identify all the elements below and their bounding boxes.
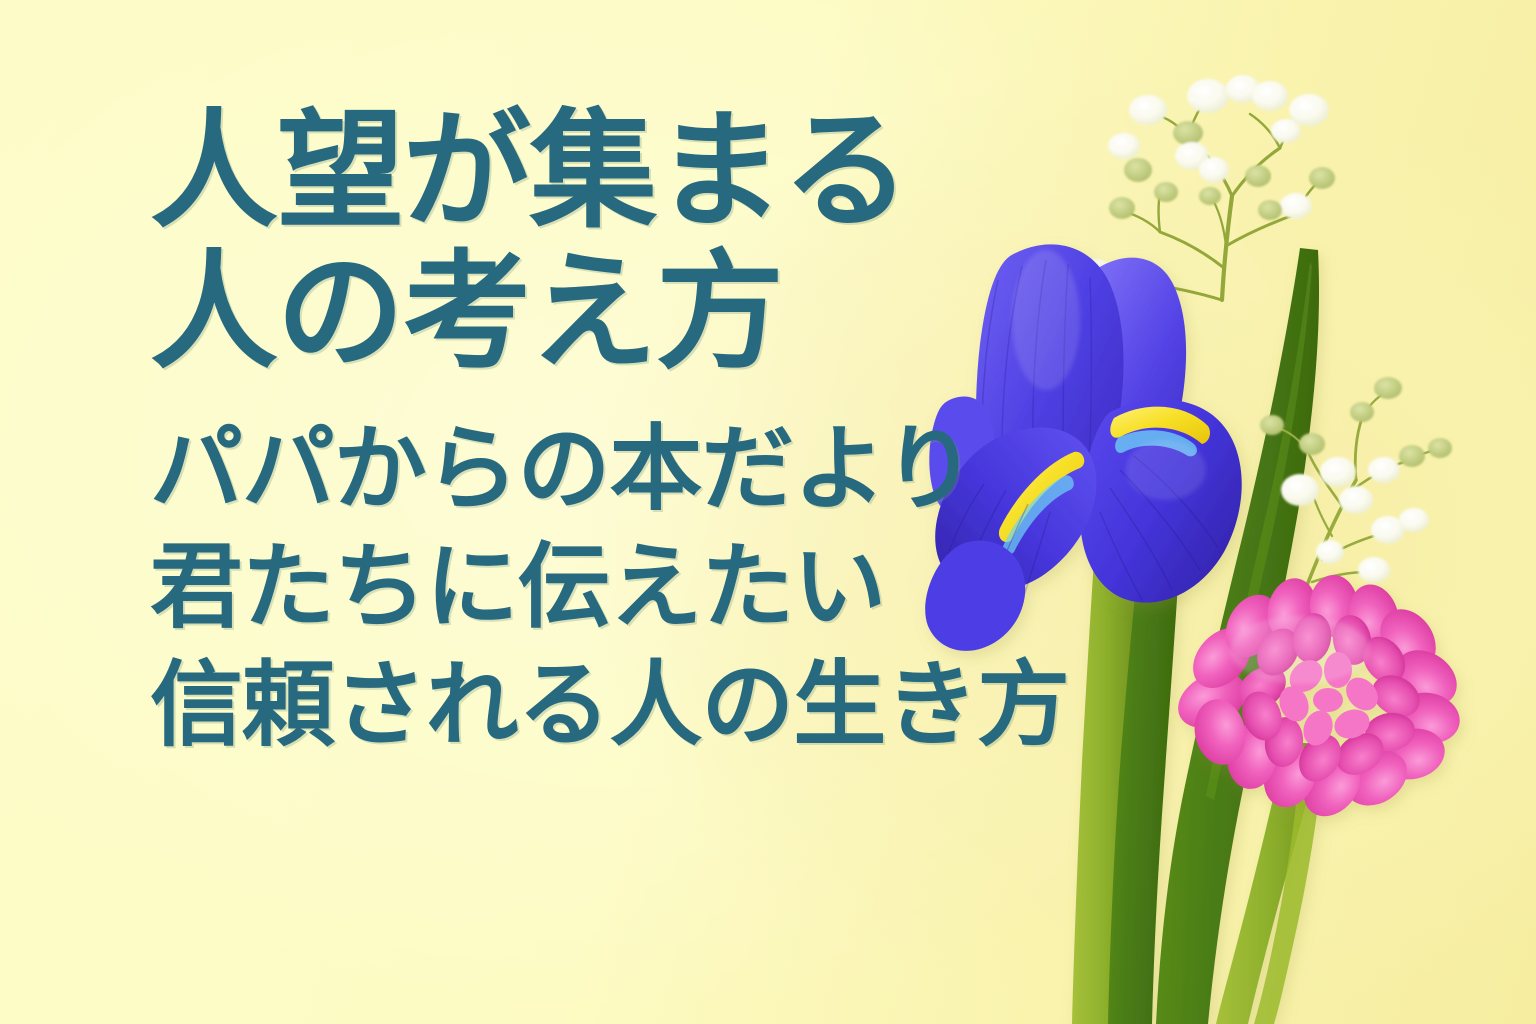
title-line-1: 人望が集まる xyxy=(150,96,1090,247)
subtitle-line-1: パパからの本だより xyxy=(150,410,1090,528)
subtitle-line-3: 信頼される人の生き方 xyxy=(150,646,1090,764)
title-line-2: 人の考え方 xyxy=(150,237,1090,388)
cover-text-block: 人望が集まる 人の考え方 パパからの本だより 君たちに伝えたい 信頼される人の生… xyxy=(150,96,1090,764)
subtitle-line-2: 君たちに伝えたい xyxy=(150,528,1090,646)
book-cover-graphic: 人望が集まる 人の考え方 パパからの本だより 君たちに伝えたい 信頼される人の生… xyxy=(0,0,1536,1024)
